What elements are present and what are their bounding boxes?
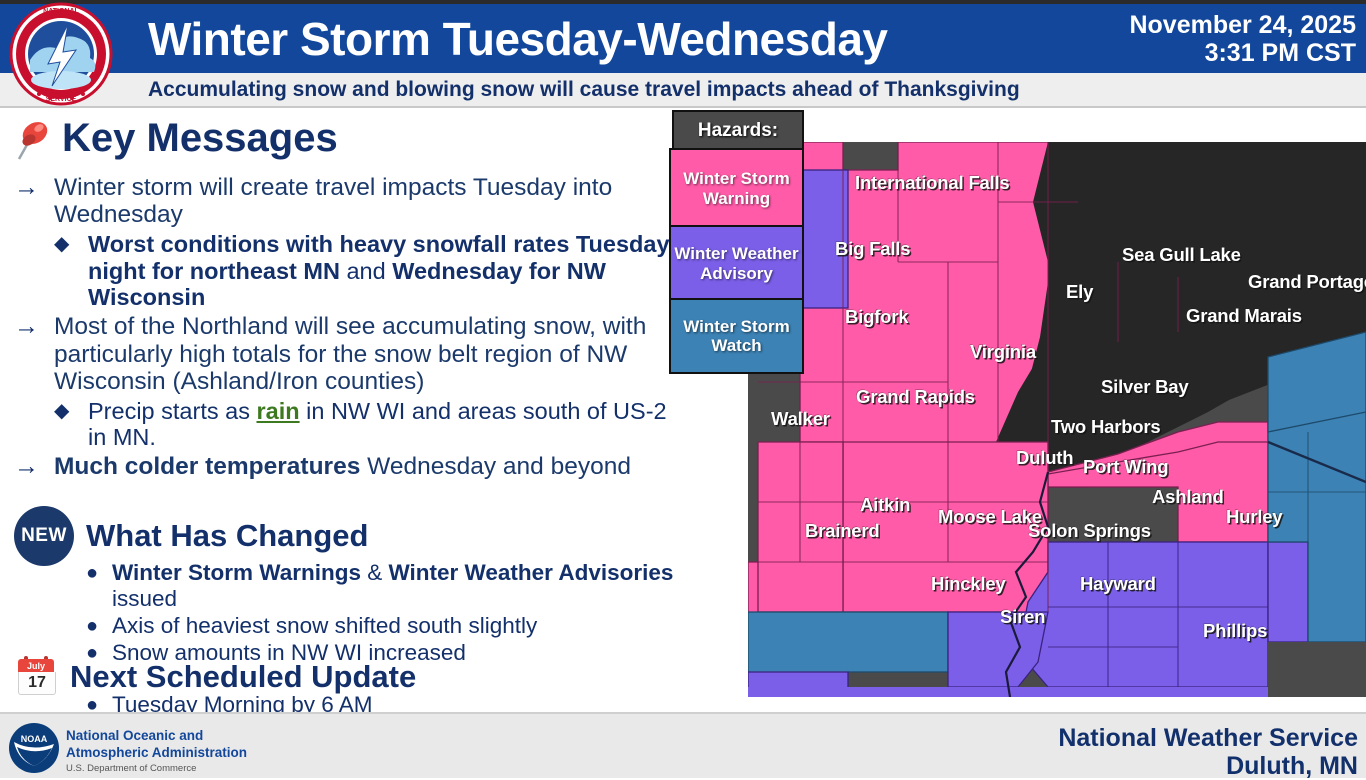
header-datetime: November 24, 2025 3:31 PM CST — [976, 4, 1356, 73]
pushpin-icon — [14, 117, 52, 161]
office-line-2: Duluth, MN — [1058, 752, 1358, 780]
key-message-text: Much colder temperatures Wednesday and b… — [54, 453, 686, 480]
what-has-changed-list: ● Winter Storm Warnings & Winter Weather… — [86, 560, 686, 666]
map-label-phillips: Phillips — [1203, 620, 1267, 642]
what-has-changed-heading: NEW What Has Changed — [14, 506, 686, 566]
page-title: Winter Storm Tuesday-Wednesday — [148, 4, 988, 73]
arrow-icon: → — [14, 174, 44, 202]
map-label-ely: Ely — [1066, 281, 1093, 303]
what-has-changed-section: NEW What Has Changed ● Winter Storm Warn… — [14, 506, 686, 667]
map-label-solon-springs: Solon Springs — [1028, 520, 1151, 542]
legend-title: Hazards: — [672, 110, 804, 152]
what-has-changed-title: What Has Changed — [86, 518, 368, 554]
hazards-legend: Hazards: Winter Storm Warning Winter Wea… — [669, 110, 800, 370]
header-date: November 24, 2025 — [1129, 11, 1356, 39]
map-label-two-harbors: Two Harbors — [1051, 416, 1161, 438]
map-label-moose-lake: Moose Lake — [938, 506, 1042, 528]
legend-item-winter-storm-warning[interactable]: Winter Storm Warning — [669, 148, 804, 229]
msg-part-bold: Much colder temperatures — [54, 453, 360, 480]
map-label-hurley: Hurley — [1226, 506, 1282, 528]
noaa-name: National Oceanic and Atmospheric Adminis… — [66, 728, 247, 762]
map-label-hayward: Hayward — [1080, 573, 1156, 595]
map-label-sea-gull-lake: Sea Gull Lake — [1122, 244, 1241, 266]
briefing-page: NATIONAL SERVICE Winter Storm Tuesday-We… — [0, 0, 1366, 778]
map-label-bigfork: Bigfork — [845, 306, 908, 328]
map-label-aitkin: Aitkin — [860, 494, 910, 516]
office-name: National Weather Service Duluth, MN — [1058, 724, 1358, 780]
item-bold-2: Winter Weather Advisories — [389, 560, 674, 585]
bullet-dot-icon: ● — [86, 613, 98, 639]
map-label-international-falls: International Falls — [855, 172, 1010, 194]
header-subtitle: Accumulating snow and blowing snow will … — [148, 73, 1358, 106]
key-message-subbullet: ◆ Precip starts as rain in NW WI and are… — [54, 398, 686, 452]
key-message-text: Most of the Northland will see accumulat… — [54, 313, 686, 395]
noaa-line-1: National Oceanic and — [66, 728, 247, 745]
rain-highlight: rain — [256, 398, 299, 424]
map-label-grand-portage: Grand Portage — [1248, 271, 1366, 293]
map-label-siren: Siren — [1000, 606, 1045, 628]
map-label-big-falls: Big Falls — [835, 238, 910, 260]
noaa-logo-icon: NOAA — [8, 722, 60, 774]
calendar-day: 17 — [18, 672, 56, 695]
key-message-subtext: Precip starts as rain in NW WI and areas… — [88, 398, 686, 452]
map-label-grand-marais: Grand Marais — [1186, 305, 1302, 327]
sub-part-plain: Precip starts as — [88, 398, 256, 424]
key-message-text: Winter storm will create travel impacts … — [54, 174, 686, 229]
arrow-icon: → — [14, 453, 44, 481]
list-item: ● Axis of heaviest snow shifted south sl… — [86, 613, 686, 639]
map-label-silver-bay: Silver Bay — [1101, 376, 1188, 398]
msg-part-plain: Wednesday and beyond — [360, 453, 631, 480]
nws-logo-icon: NATIONAL SERVICE — [6, 2, 116, 106]
map-label-hinckley: Hinckley — [931, 573, 1006, 595]
calendar-icon: July 17 — [14, 656, 58, 698]
next-update-title: Next Scheduled Update — [70, 659, 416, 695]
key-messages-heading: Key Messages — [14, 116, 338, 161]
map-label-brainerd: Brainerd — [805, 520, 879, 542]
diamond-icon: ◆ — [54, 398, 76, 424]
map-label-port-wing: Port Wing — [1083, 456, 1168, 478]
office-line-1: National Weather Service — [1058, 724, 1358, 752]
map-label-duluth: Duluth — [1016, 447, 1073, 469]
svg-text:NATIONAL: NATIONAL — [43, 8, 79, 15]
next-update-section: July 17 Next Scheduled Update ● Tuesday … — [14, 656, 686, 719]
key-message-bullet: → Winter storm will create travel impact… — [14, 174, 686, 229]
list-item-text: Winter Storm Warnings & Winter Weather A… — [112, 560, 686, 612]
item-plain-1: & — [361, 560, 389, 585]
map-label-grand-rapids: Grand Rapids — [856, 386, 975, 408]
legend-item-winter-storm-watch[interactable]: Winter Storm Watch — [669, 298, 804, 374]
new-badge: NEW — [14, 506, 74, 566]
map-label-walker: Walker — [771, 408, 830, 430]
key-message-subbullet: ◆ Worst conditions with heavy snowfall r… — [54, 231, 686, 311]
map-label-ashland: Ashland — [1152, 486, 1224, 508]
list-item-text: Axis of heaviest snow shifted south slig… — [112, 613, 537, 639]
noaa-department: U.S. Department of Commerce — [66, 763, 196, 774]
key-messages-title: Key Messages — [62, 116, 338, 161]
key-message-bullet: → Much colder temperatures Wednesday and… — [14, 453, 686, 481]
key-messages-list: → Winter storm will create travel impact… — [14, 174, 686, 483]
diamond-icon: ◆ — [54, 231, 76, 257]
calendar-month: July — [18, 659, 54, 672]
noaa-line-2: Atmospheric Administration — [66, 745, 247, 762]
key-messages-panel: Key Messages → Winter storm will create … — [0, 108, 700, 712]
bullet-dot-icon: ● — [86, 560, 98, 586]
map-label-virginia: Virginia — [970, 341, 1036, 363]
legend-item-winter-weather-advisory[interactable]: Winter Weather Advisory — [669, 225, 804, 302]
svg-text:NOAA: NOAA — [21, 734, 48, 744]
arrow-icon: → — [14, 313, 44, 341]
sub-part-plain: and — [340, 258, 392, 284]
header-time: 3:31 PM CST — [1205, 39, 1356, 67]
key-message-subtext: Worst conditions with heavy snowfall rat… — [88, 231, 686, 311]
item-bold-1: Winter Storm Warnings — [112, 560, 361, 585]
list-item: ● Winter Storm Warnings & Winter Weather… — [86, 560, 686, 612]
key-message-bullet: → Most of the Northland will see accumul… — [14, 313, 686, 395]
item-plain-2: issued — [112, 586, 177, 611]
